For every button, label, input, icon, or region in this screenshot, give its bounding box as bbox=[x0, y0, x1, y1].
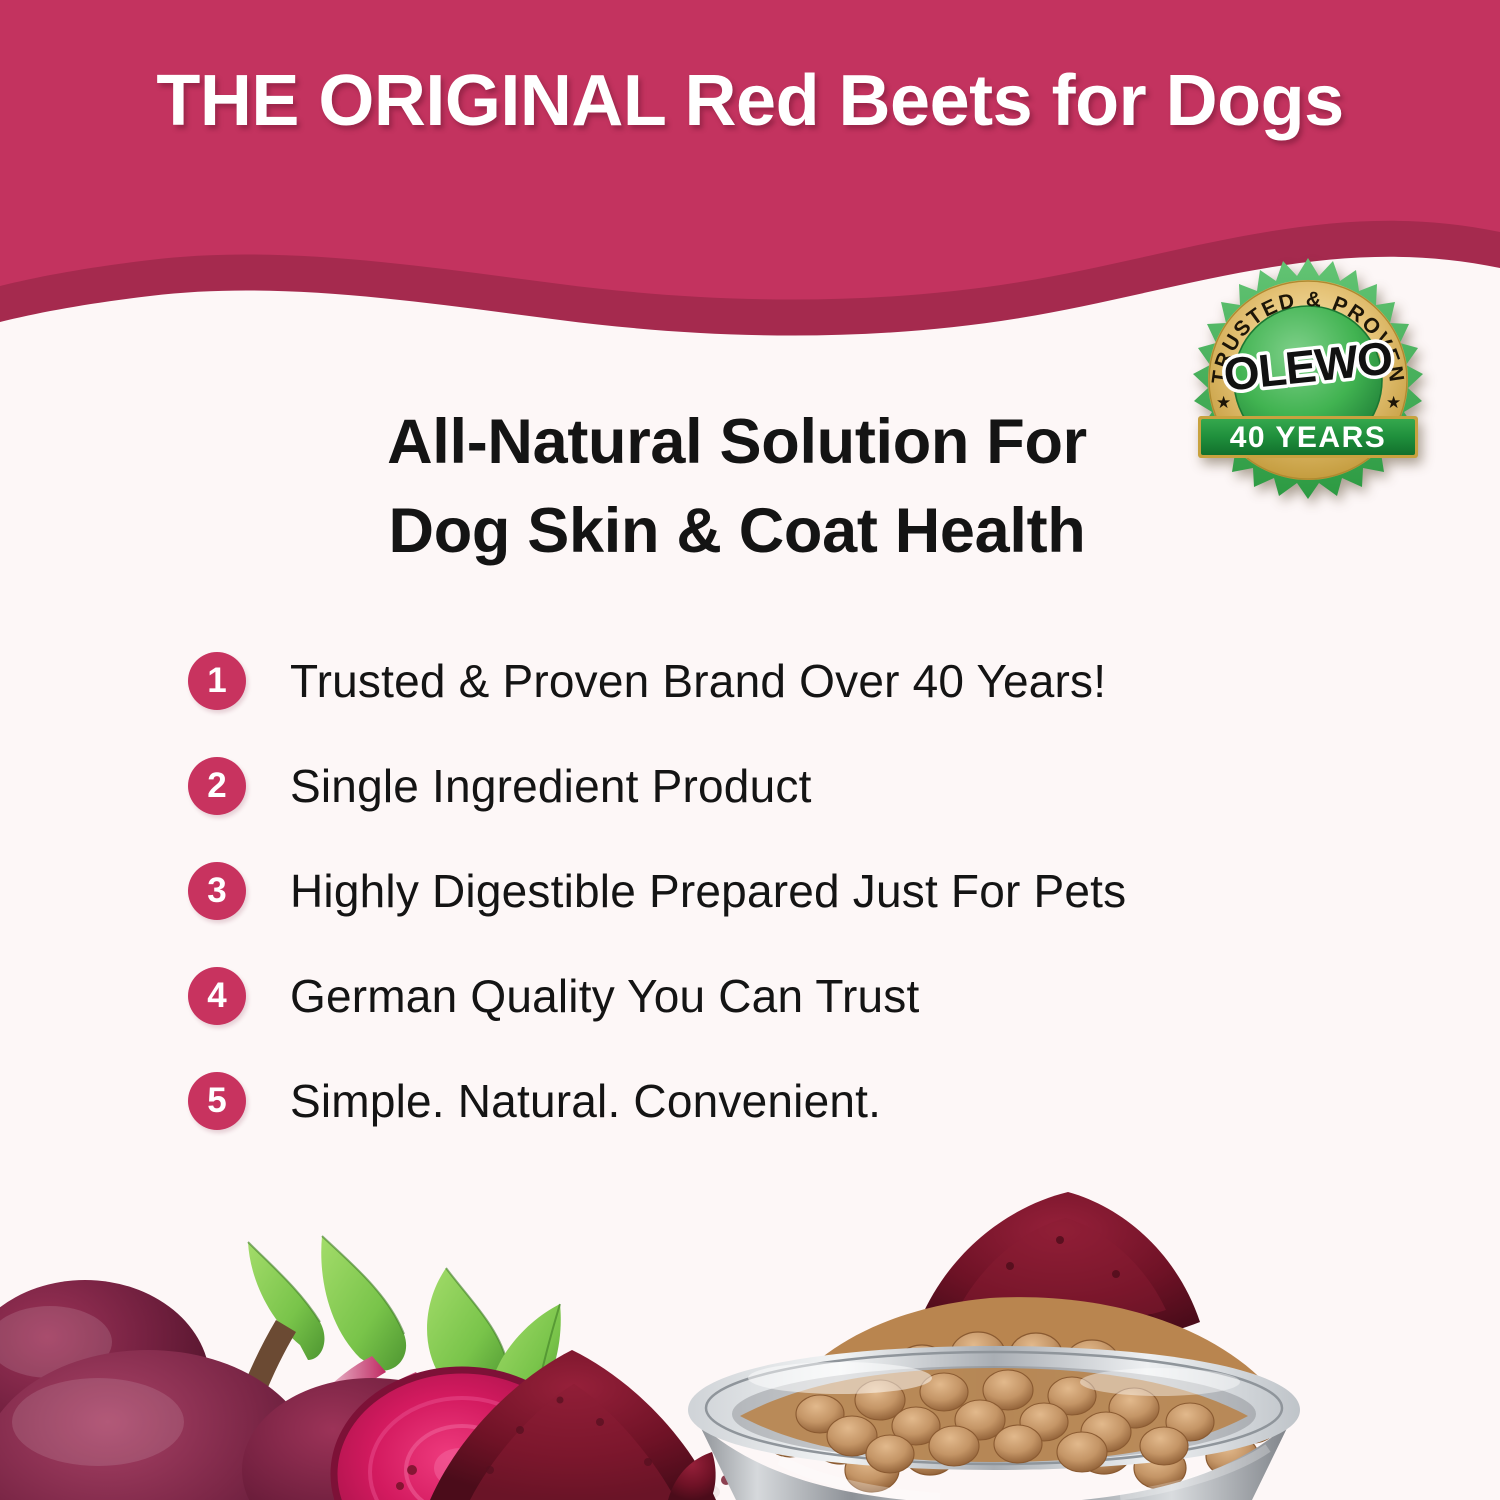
badge-ribbon: 40 YEARS bbox=[1198, 416, 1418, 458]
list-item-number-badge: 1 bbox=[188, 652, 246, 710]
list-item-number-badge: 5 bbox=[188, 1072, 246, 1130]
list-item-number-badge: 4 bbox=[188, 967, 246, 1025]
list-item-label: Simple. Natural. Convenient. bbox=[290, 1076, 1388, 1127]
badge-seal-graphic: TRUSTED & PROVEN ★ ★ OLEWO 40 YEARS bbox=[1186, 256, 1430, 504]
list-item: 4 German Quality You Can Trust bbox=[188, 967, 1388, 1025]
feature-list: 1 Trusted & Proven Brand Over 40 Years! … bbox=[188, 652, 1388, 1177]
list-item: 2 Single Ingredient Product bbox=[188, 757, 1388, 815]
list-item-label: German Quality You Can Trust bbox=[290, 971, 1388, 1022]
list-item: 5 Simple. Natural. Convenient. bbox=[188, 1072, 1388, 1130]
page-title: THE ORIGINAL Red Beets for Dogs bbox=[0, 64, 1500, 140]
poster-root: THE ORIGINAL Red Beets for Dogs bbox=[0, 0, 1500, 1500]
product-photo-illustration bbox=[0, 1170, 1500, 1500]
list-item-label: Trusted & Proven Brand Over 40 Years! bbox=[290, 656, 1388, 707]
product-photo bbox=[0, 1170, 1500, 1500]
list-item-label: Single Ingredient Product bbox=[290, 761, 1388, 812]
list-item-number-badge: 2 bbox=[188, 757, 246, 815]
list-item: 3 Highly Digestible Prepared Just For Pe… bbox=[188, 862, 1388, 920]
trusted-and-proven-badge-icon: TRUSTED & PROVEN ★ ★ OLEWO 40 YEARS bbox=[1186, 256, 1430, 504]
badge-star-right-icon: ★ bbox=[1386, 393, 1401, 413]
svg-text:40 YEARS: 40 YEARS bbox=[1230, 421, 1387, 454]
list-item-number-badge: 3 bbox=[188, 862, 246, 920]
list-item: 1 Trusted & Proven Brand Over 40 Years! bbox=[188, 652, 1388, 710]
list-item-label: Highly Digestible Prepared Just For Pets bbox=[290, 866, 1388, 917]
